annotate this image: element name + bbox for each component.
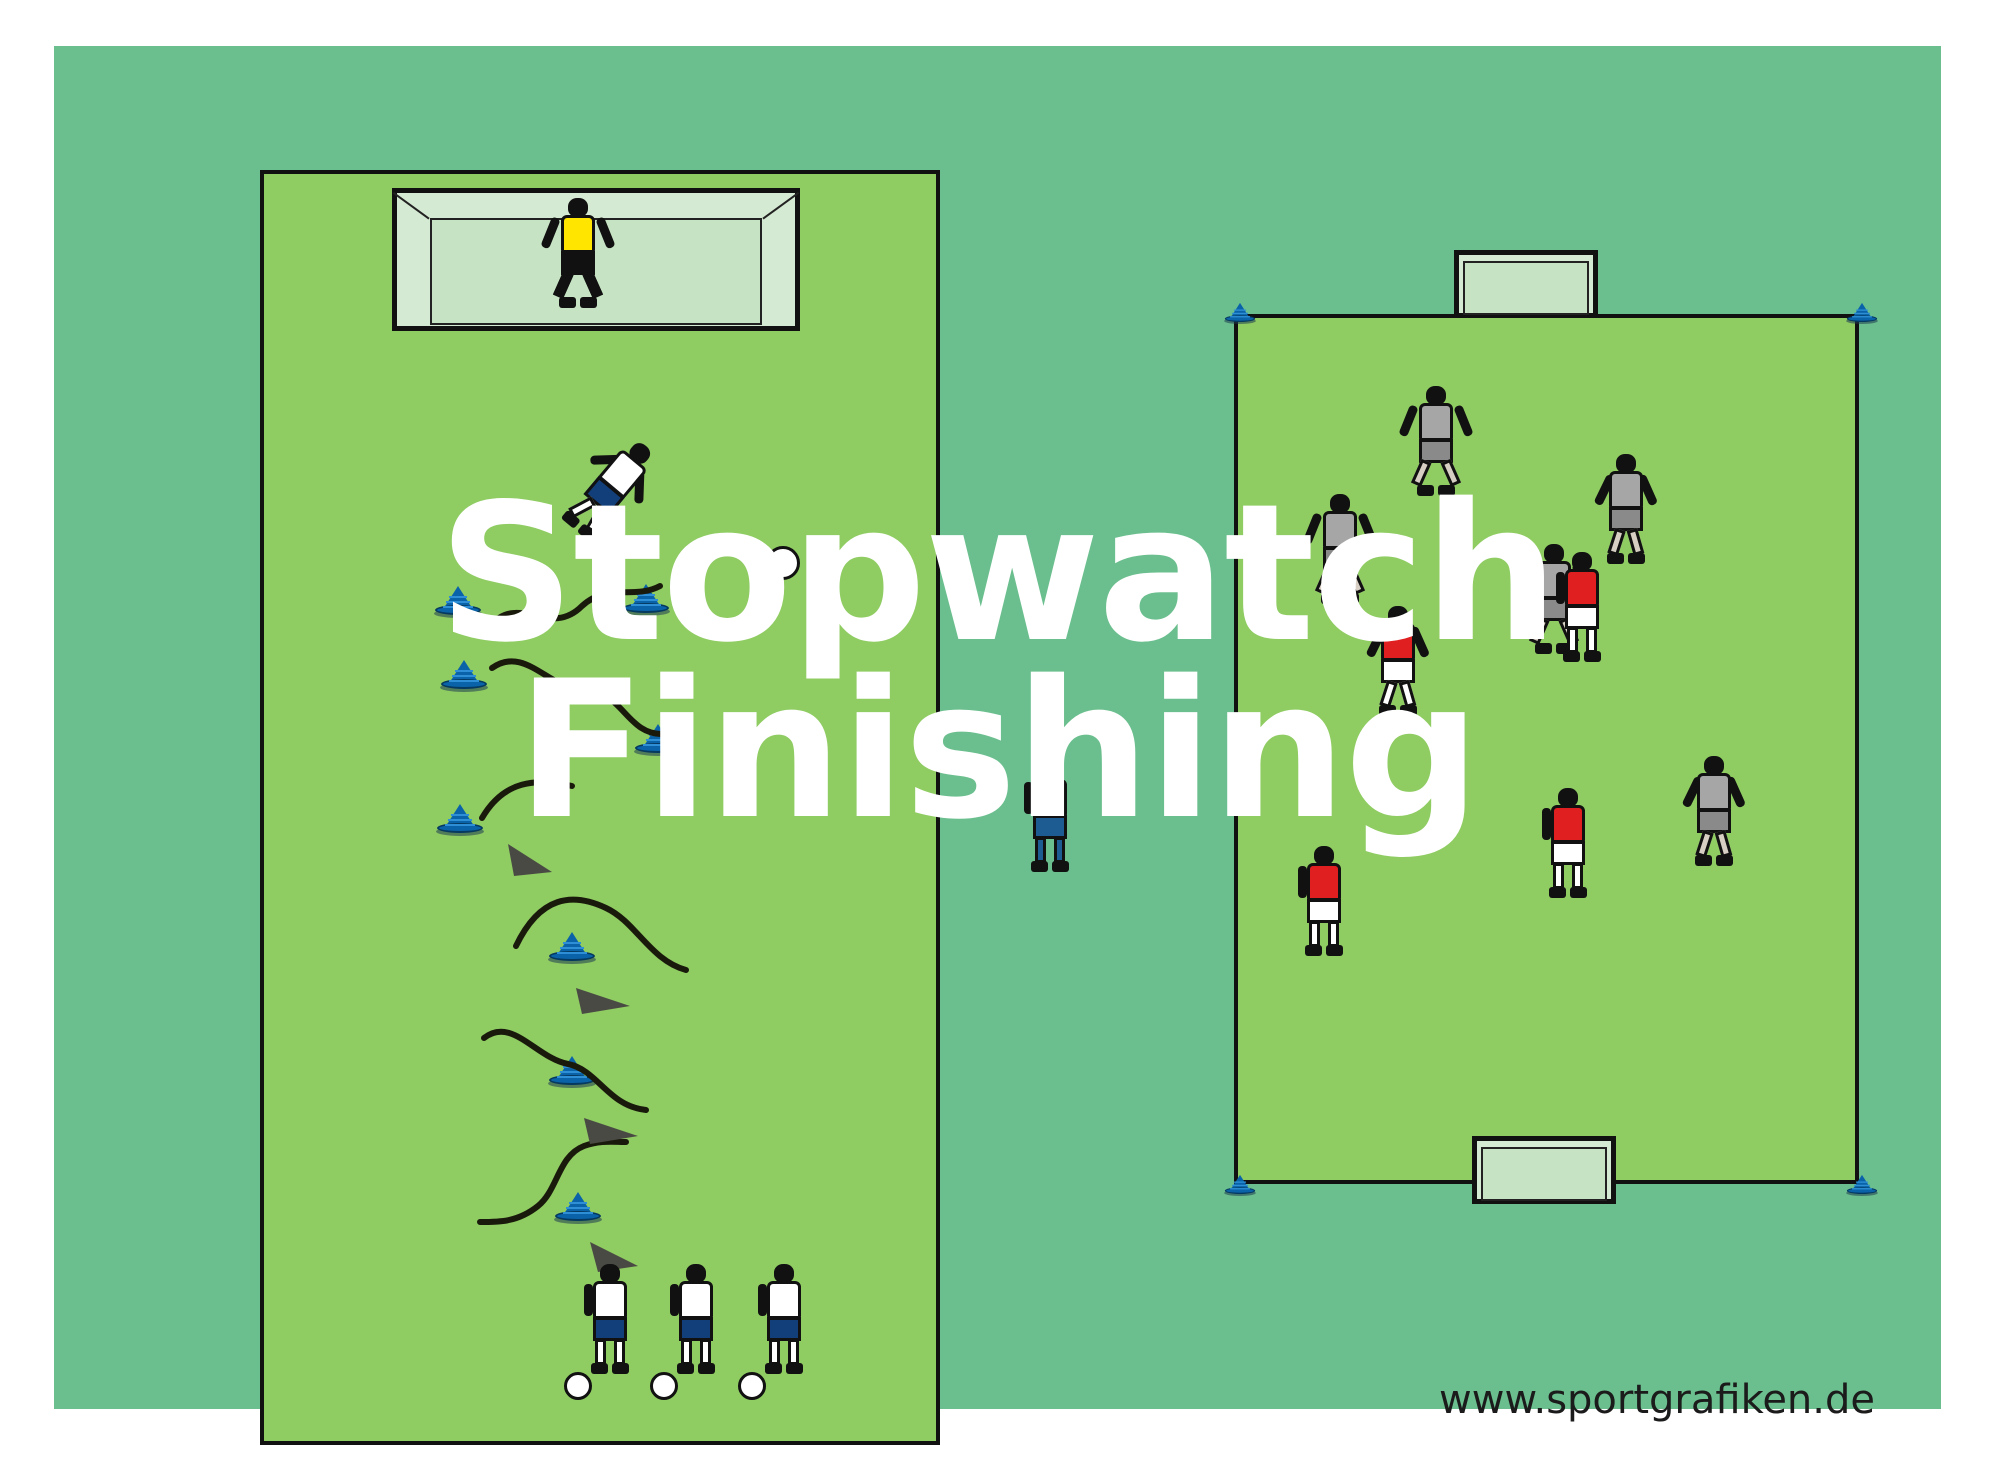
player-shorts <box>1551 841 1585 865</box>
queue-ball-2 <box>650 1372 678 1400</box>
player-torso <box>767 1281 801 1319</box>
training-diagram-poster: Stopwatch Finishing www.sportgrafiken.de <box>0 0 2000 1463</box>
queue-ball-1 <box>564 1372 592 1400</box>
player-torso <box>1323 511 1357 549</box>
cone-3 <box>438 654 490 692</box>
player-torso <box>561 215 595 253</box>
player-leg-left <box>1567 627 1578 653</box>
player-boot-left <box>1695 855 1712 866</box>
large-goal-top <box>392 188 800 331</box>
queue-ball-3 <box>738 1372 766 1400</box>
player-boot-left <box>591 1363 608 1374</box>
player-boot-left <box>1417 485 1434 496</box>
player-boot-left <box>1607 553 1624 564</box>
player-shorts <box>1697 809 1731 833</box>
player-boot-right <box>698 1363 715 1374</box>
goal-mouth <box>1481 1147 1607 1201</box>
player-shorts <box>1609 507 1643 531</box>
goal-mouth <box>430 218 762 325</box>
player-boot-right <box>1326 945 1343 956</box>
player-leg-left <box>769 1339 780 1365</box>
player-boot-left <box>1535 643 1552 654</box>
player-leg-right <box>614 1339 625 1365</box>
player-boot-right <box>786 1363 803 1374</box>
player-arm-left <box>1556 572 1565 604</box>
player-boot-left <box>1031 861 1048 872</box>
player-shorts <box>593 1317 627 1341</box>
small-goal-bottom <box>1472 1136 1616 1204</box>
player-boot-left <box>1305 945 1322 956</box>
player-shorts <box>767 1317 801 1341</box>
player-boot-right <box>1716 855 1733 866</box>
goal-mouth <box>1463 261 1589 315</box>
player-shorts <box>1565 605 1599 629</box>
player-shorts <box>1307 899 1341 923</box>
player-boot-right <box>612 1363 629 1374</box>
corner-cone-top-left <box>1223 299 1257 324</box>
player-boot-right <box>1438 485 1455 496</box>
dribble-path-segment-3 <box>476 772 596 832</box>
player-boot-left <box>677 1363 694 1374</box>
cone-1 <box>432 580 484 618</box>
player-arm-left <box>1298 866 1307 898</box>
player-shorts <box>1381 659 1415 683</box>
player-boot-right <box>1342 593 1359 604</box>
dribble-path-segment-4 <box>510 882 710 992</box>
corner-cone-top-right <box>1845 299 1879 324</box>
player-boot-left <box>559 297 576 308</box>
player-leg-right <box>788 1339 799 1365</box>
small-goal-top <box>1454 250 1598 318</box>
player-torso <box>1551 805 1585 843</box>
right-training-area <box>1234 314 1859 1184</box>
corner-cone-bottom-left <box>1223 1171 1257 1196</box>
player-leg-right <box>1572 863 1583 889</box>
player-torso <box>1381 623 1415 661</box>
player-leg-left <box>1553 863 1564 889</box>
player-boot-left <box>765 1363 782 1374</box>
player-leg-left <box>681 1339 692 1365</box>
player-boot-right <box>580 297 597 308</box>
player-boot-left <box>1563 651 1580 662</box>
player-leg-left <box>1035 837 1046 863</box>
player-shorts <box>1033 815 1067 839</box>
player-boot-right <box>1052 861 1069 872</box>
player-boot-right <box>1628 553 1645 564</box>
player-torso <box>679 1281 713 1319</box>
player-leg-right <box>700 1339 711 1365</box>
player-leg-right <box>1328 921 1339 947</box>
player-torso <box>1307 863 1341 901</box>
player-leg-left <box>595 1339 606 1365</box>
player-torso <box>1697 773 1731 811</box>
player-boot-left <box>1379 705 1396 716</box>
poster-background: Stopwatch Finishing www.sportgrafiken.de <box>54 46 1941 1409</box>
player-boot-right <box>1400 705 1417 716</box>
dribble-path-segment-5 <box>478 1010 678 1120</box>
player-torso <box>1565 569 1599 607</box>
dribble-path-segment-2 <box>486 638 706 758</box>
player-boot-left <box>1549 887 1566 898</box>
player-arm-left <box>584 1284 593 1316</box>
player-leg-right <box>1054 837 1065 863</box>
shot-ball <box>766 546 800 580</box>
player-torso <box>1609 471 1643 509</box>
player-boot-left <box>1321 593 1338 604</box>
player-leg-left <box>1309 921 1320 947</box>
player-arm-left <box>1542 808 1551 840</box>
player-arm-left <box>758 1284 767 1316</box>
player-leg-right <box>1586 627 1597 653</box>
player-torso <box>593 1281 627 1319</box>
player-boot-right <box>1584 651 1601 662</box>
player-torso <box>1033 779 1067 817</box>
site-watermark: www.sportgrafiken.de <box>1439 1377 1875 1423</box>
player-arm-left <box>670 1284 679 1316</box>
player-arm-left <box>1024 782 1033 814</box>
player-shorts <box>679 1317 713 1341</box>
player-boot-right <box>1570 887 1587 898</box>
corner-cone-bottom-right <box>1845 1171 1879 1196</box>
player-torso <box>1419 403 1453 441</box>
